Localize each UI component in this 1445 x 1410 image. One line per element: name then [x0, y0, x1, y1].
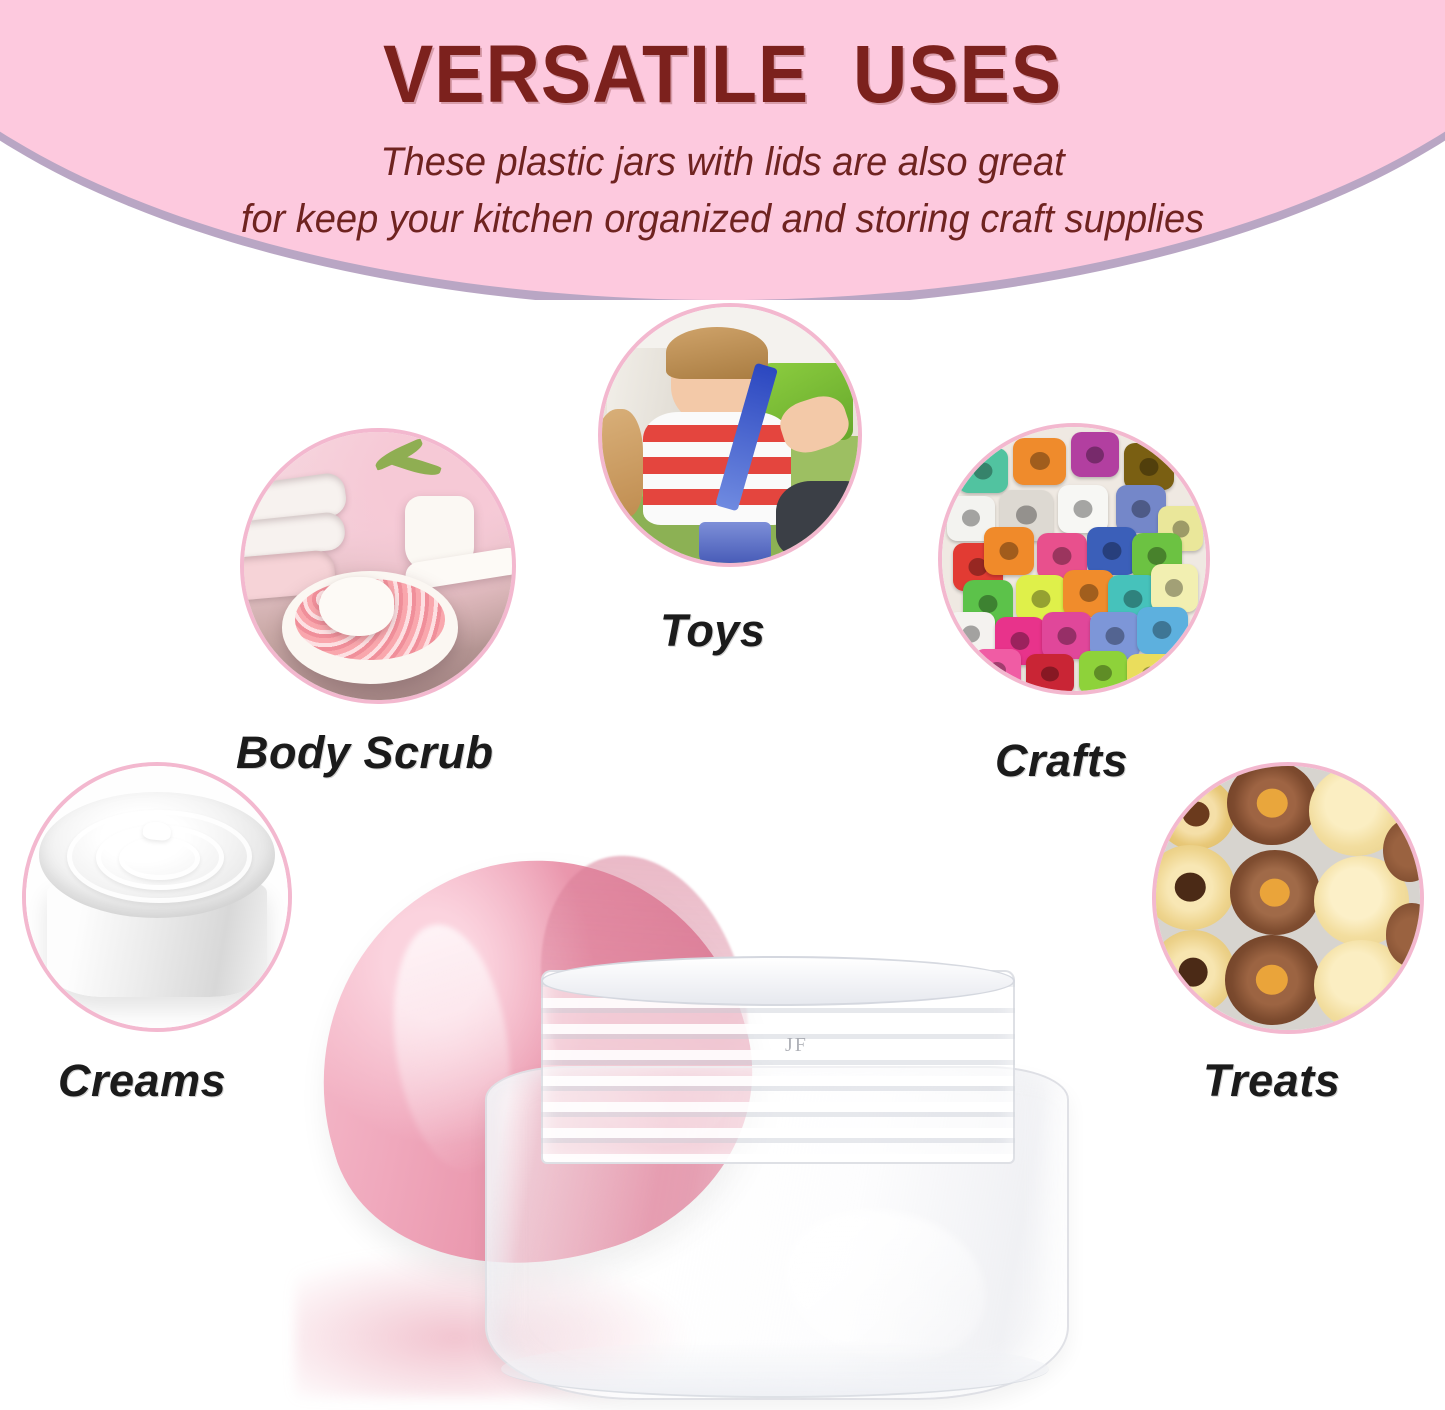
use-case-image-treats — [1152, 762, 1424, 1034]
child-leg — [776, 481, 862, 558]
chocolate-cookie-1 — [1227, 762, 1317, 845]
butter-cookie-1 — [1156, 777, 1235, 851]
use-case-image-toys — [598, 303, 862, 567]
background-child-hair — [598, 409, 643, 517]
subtitle-line-1: These plastic jars with lids are also gr… — [36, 116, 1409, 191]
use-case-image-body-scrub — [240, 428, 516, 704]
cream-artwork — [26, 766, 288, 1028]
use-case-label-creams: Creams — [58, 1058, 226, 1103]
jar-embossed-mark: JF — [785, 1034, 808, 1057]
treats-artwork — [1156, 766, 1420, 1030]
banner-text-block: VERSATILE USES These plastic jars with l… — [0, 0, 1445, 248]
use-case-label-treats: Treats — [1203, 1058, 1340, 1103]
jar-mouth-opening — [541, 956, 1015, 1006]
butter-cookie-2 — [1152, 845, 1235, 929]
clear-jar: JF — [485, 970, 1065, 1400]
toys-artwork — [602, 307, 858, 563]
cream-swirl-3 — [119, 837, 200, 880]
use-case-label-crafts: Crafts — [995, 738, 1128, 783]
jar-base — [501, 1340, 1049, 1398]
header-banner: VERSATILE USES These plastic jars with l… — [0, 0, 1445, 300]
use-case-image-crafts — [938, 423, 1210, 695]
page-title: VERSATILE USES — [58, 0, 1387, 116]
craft-beads-artwork — [942, 427, 1206, 691]
spoon-bowl — [319, 577, 394, 636]
use-case-label-toys: Toys — [660, 608, 765, 653]
product-hero-image: JF — [255, 840, 1155, 1410]
use-case-image-creams — [22, 762, 292, 1032]
slime-container — [699, 522, 771, 567]
child-striped-shirt — [643, 412, 791, 525]
chocolate-cookie-2 — [1230, 850, 1320, 934]
butter-cookie-3 — [1152, 930, 1235, 1014]
chocolate-cookie-3 — [1225, 935, 1320, 1025]
subtitle-line-2: for keep your kitchen organized and stor… — [36, 191, 1409, 248]
body-scrub-artwork — [244, 432, 512, 700]
cream-surface — [39, 792, 275, 918]
